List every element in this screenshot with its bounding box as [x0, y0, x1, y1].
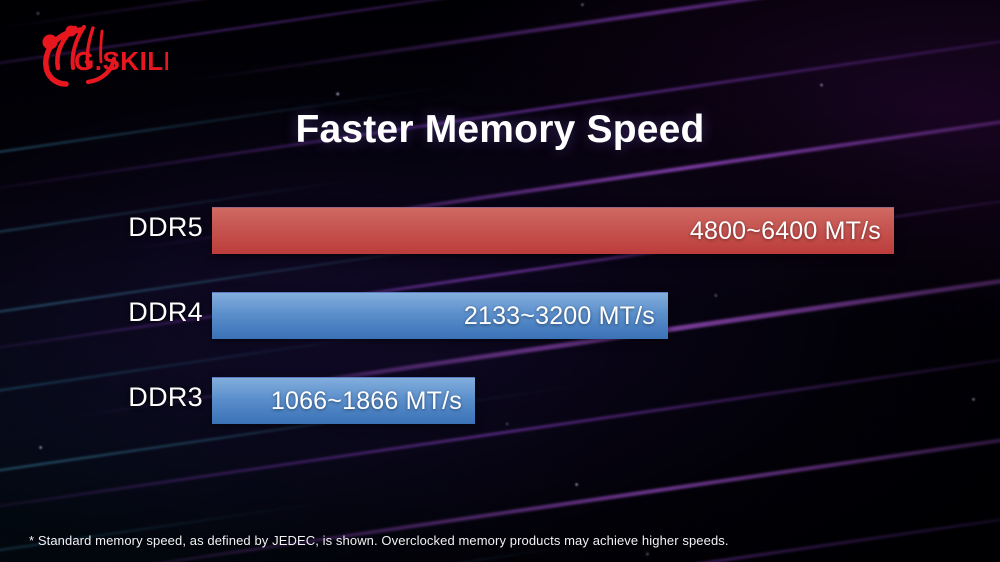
slide-canvas: G.SKILL Faster Memory Speed DDR5 4800~64… — [0, 0, 1000, 562]
footnote-disclaimer: * Standard memory speed, as defined by J… — [29, 533, 729, 548]
chart-row-label-ddr4: DDR4 — [0, 297, 203, 328]
gskill-logo-mark: G.SKILL — [18, 16, 168, 88]
logo-dot-small — [66, 26, 77, 37]
chart-row-label-ddr3: DDR3 — [0, 382, 203, 413]
chart-bar-ddr3: 1066~1866 MT/s — [212, 377, 475, 424]
chart-row-label-ddr5: DDR5 — [0, 212, 203, 243]
chart-bar-value-ddr5: 4800~6400 MT/s — [690, 217, 881, 246]
memory-speed-chart: DDR5 4800~6400 MT/s DDR4 2133~3200 MT/s … — [0, 198, 1000, 453]
chart-bar-ddr4: 2133~3200 MT/s — [212, 292, 668, 339]
gskill-logo: G.SKILL — [18, 16, 168, 88]
chart-row-ddr3: DDR3 1066~1866 MT/s — [0, 368, 1000, 453]
chart-row-ddr5: DDR5 4800~6400 MT/s — [0, 198, 1000, 283]
logo-wordmark: G.SKILL — [74, 46, 168, 76]
logo-dot-large — [43, 35, 58, 50]
chart-bar-value-ddr4: 2133~3200 MT/s — [464, 302, 655, 331]
page-title: Faster Memory Speed — [0, 108, 1000, 152]
chart-row-ddr4: DDR4 2133~3200 MT/s — [0, 283, 1000, 368]
chart-bar-value-ddr3: 1066~1866 MT/s — [271, 387, 462, 416]
chart-bar-ddr5: 4800~6400 MT/s — [212, 207, 894, 254]
